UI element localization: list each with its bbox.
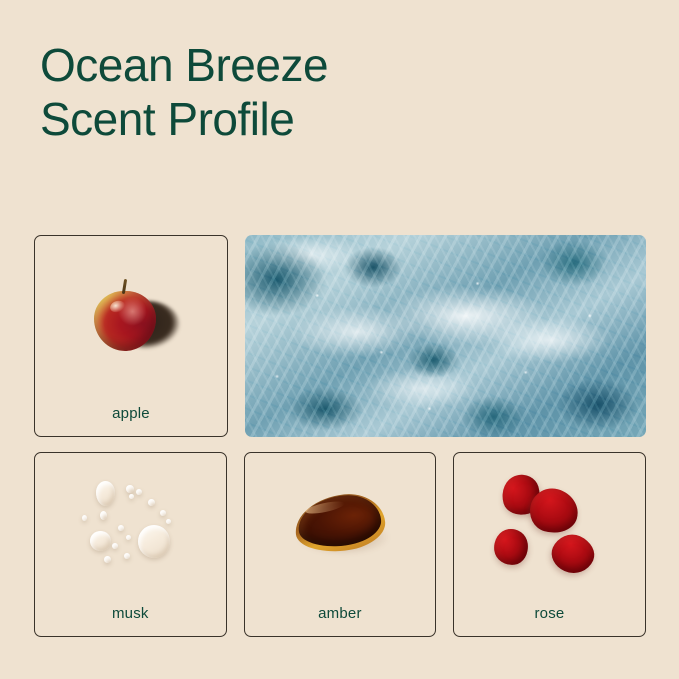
droplet	[160, 510, 166, 516]
scent-note-card-musk[interactable]: musk	[34, 452, 227, 637]
rose-petal	[547, 528, 601, 580]
amber-thumbnail	[245, 453, 436, 596]
droplet	[90, 531, 111, 551]
scent-note-card-apple[interactable]: apple	[34, 235, 228, 437]
droplet	[129, 494, 134, 499]
hero-image-ocean[interactable]	[245, 235, 646, 437]
droplet-large	[138, 525, 170, 558]
grid-row-bottom: musk amber	[34, 452, 646, 637]
grid-row-top: apple	[34, 235, 646, 437]
scent-note-card-rose[interactable]: rose	[453, 452, 646, 637]
droplet	[148, 499, 155, 506]
scent-note-label-rose: rose	[454, 605, 645, 622]
page-title: Ocean Breeze Scent Profile	[40, 38, 328, 146]
amber-gemstone-icon	[285, 485, 395, 565]
scent-note-label-apple: apple	[35, 405, 227, 422]
apple-thumbnail	[35, 236, 227, 396]
droplet	[166, 519, 171, 524]
scent-profile-page: Ocean Breeze Scent Profile apple	[0, 0, 679, 679]
droplet	[118, 525, 124, 531]
droplet	[82, 515, 87, 521]
scent-note-label-amber: amber	[245, 605, 436, 622]
rose-petal	[492, 526, 531, 566]
ocean-spray-layer	[245, 235, 646, 437]
water-droplets-icon	[74, 477, 186, 573]
apple-icon	[88, 275, 174, 357]
droplet	[100, 511, 107, 520]
droplet	[112, 543, 118, 549]
rose-thumbnail	[454, 453, 645, 596]
scent-note-card-amber[interactable]: amber	[244, 452, 437, 637]
scent-note-label-musk: musk	[35, 605, 226, 622]
droplet	[126, 535, 131, 540]
droplet	[126, 485, 134, 493]
droplet	[124, 553, 130, 559]
droplet	[104, 556, 111, 563]
droplet	[136, 489, 142, 495]
musk-thumbnail	[35, 453, 226, 596]
scent-notes-grid: apple	[34, 235, 646, 637]
rose-petals-icon	[490, 473, 608, 577]
droplet	[96, 481, 115, 506]
